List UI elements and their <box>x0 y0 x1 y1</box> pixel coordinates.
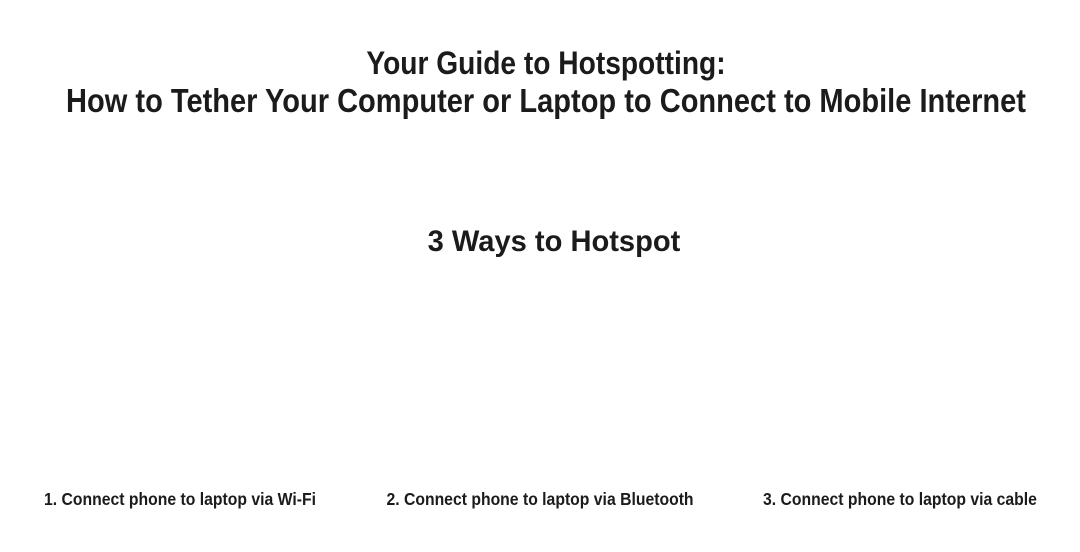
illustration-slot-wifi <box>0 285 360 475</box>
page-title: Your Guide to Hotspotting: How to Tether… <box>0 44 1080 120</box>
title-line-1: Your Guide to Hotspotting: <box>66 44 1027 82</box>
caption-step-1: 1. Connect phone to laptop via Wi-Fi <box>18 487 342 511</box>
caption-step-2: 2. Connect phone to laptop via Bluetooth <box>378 487 702 511</box>
infographic-page: Your Guide to Hotspotting: How to Tether… <box>0 0 1080 552</box>
illustration-band <box>0 285 1080 475</box>
illustration-slot-bluetooth <box>360 285 720 475</box>
caption-row: 1. Connect phone to laptop via Wi-Fi 2. … <box>0 487 1080 513</box>
illustration-slot-cable <box>720 285 1080 475</box>
caption-step-3: 3. Connect phone to laptop via cable <box>738 487 1062 511</box>
title-line-2: How to Tether Your Computer or Laptop to… <box>66 82 1027 120</box>
section-heading: 3 Ways to Hotspot <box>17 222 1080 262</box>
